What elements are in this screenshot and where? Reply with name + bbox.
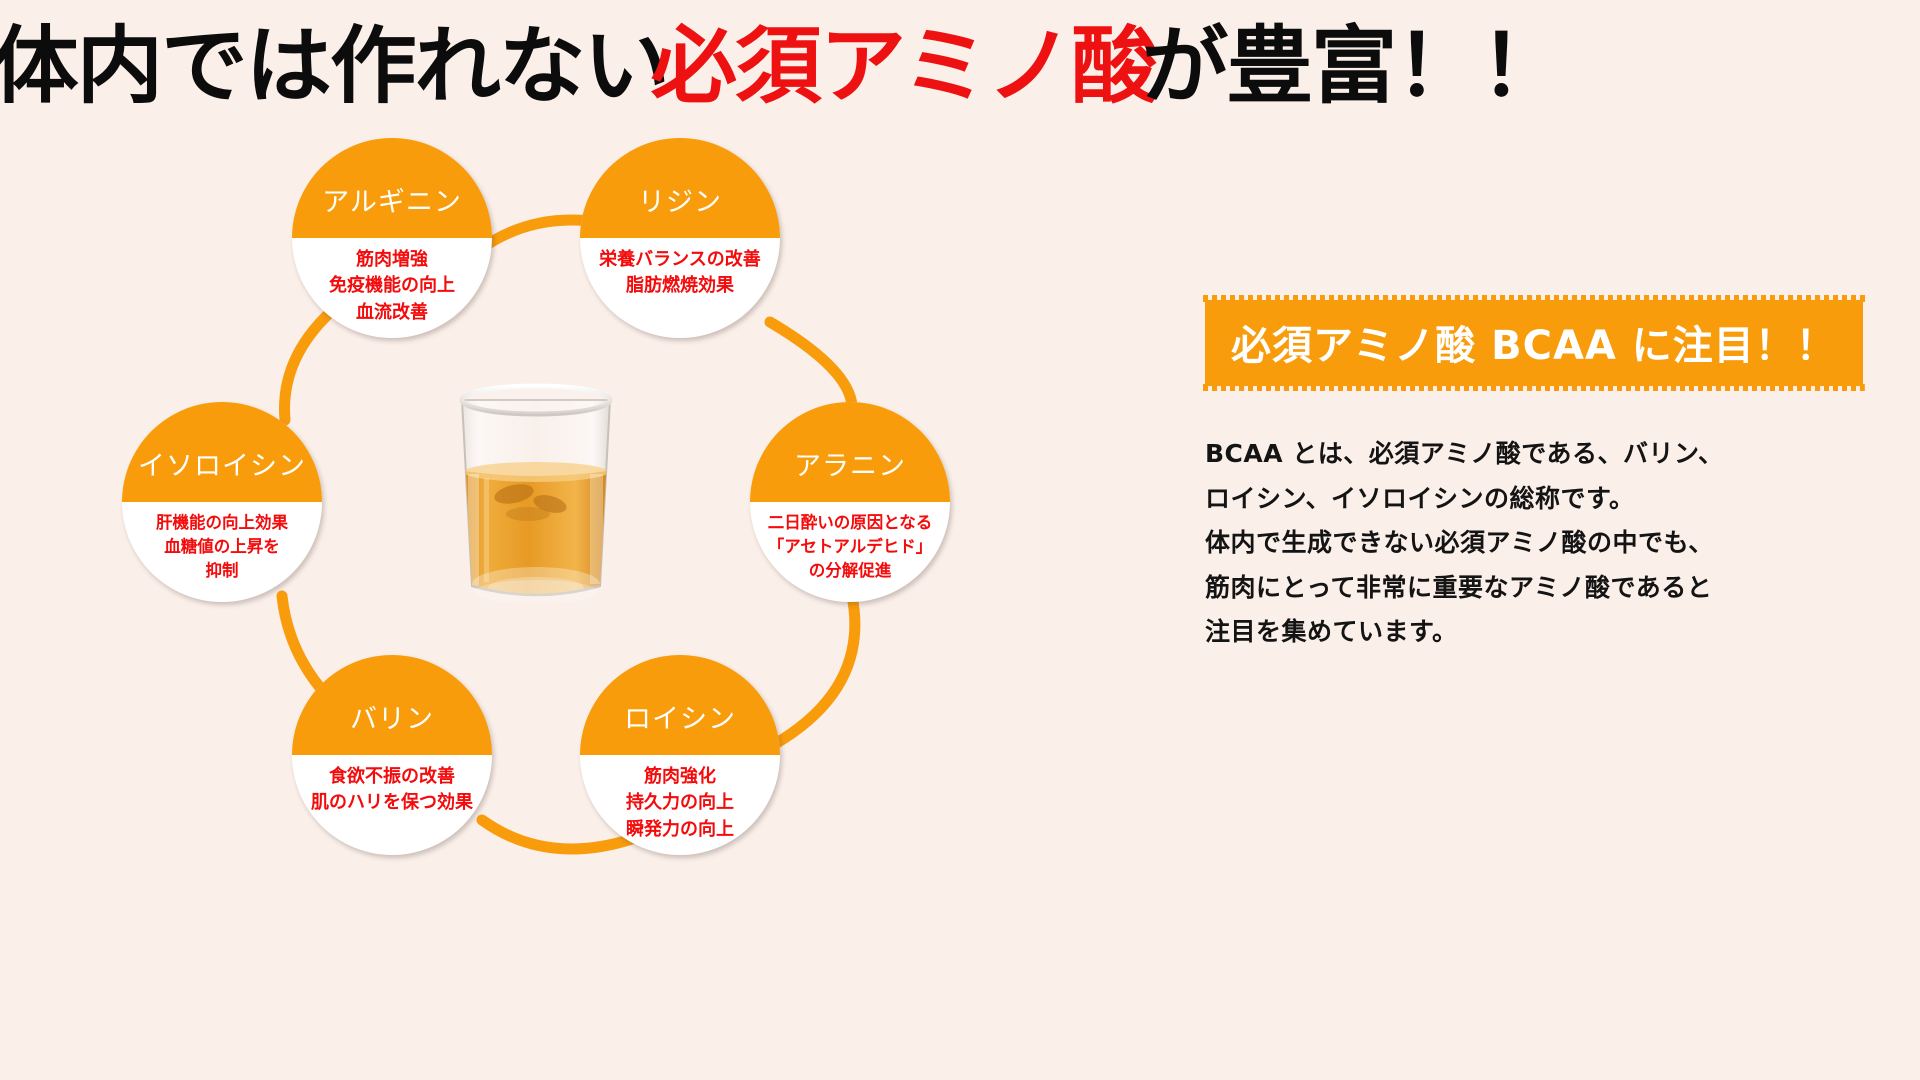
bubble-valine-effects: 食欲不振の改善 肌のハリを保つ効果: [292, 755, 492, 855]
bubble-arginine-name: アルギニン: [322, 180, 462, 219]
effect-line: 筋肉増強: [356, 247, 428, 273]
effect-line: 持久力の向上: [626, 790, 734, 816]
bubble-lysine-name: リジン: [638, 180, 722, 219]
page-title: 体内では作れない必須アミノ酸が豊富！！: [0, 22, 1560, 110]
bubble-alanine-header: アラニン: [750, 402, 950, 502]
bubble-valine[interactable]: バリン 食欲不振の改善 肌のハリを保つ効果: [292, 655, 492, 855]
effect-line: 肌のハリを保つ効果: [311, 790, 473, 816]
bubble-leucine[interactable]: ロイシン 筋肉強化 持久力の向上 瞬発力の向上: [580, 655, 780, 855]
bcaa-banner-text: 必須アミノ酸 BCAA に注目！！: [1231, 323, 1837, 369]
bubble-isoleucine[interactable]: イソロイシン 肝機能の向上効果 血糖値の上昇を 抑制: [122, 402, 322, 602]
title-highlight: 必須アミノ酸: [650, 22, 1155, 110]
bubble-arginine[interactable]: アルギニン 筋肉増強 免疫機能の向上 血流改善: [292, 138, 492, 338]
amino-acid-wheel: アルギニン 筋肉増強 免疫機能の向上 血流改善 リジン 栄養バランスの改善 脂肪…: [110, 130, 1010, 890]
bubble-leucine-effects: 筋肉強化 持久力の向上 瞬発力の向上: [580, 755, 780, 855]
bubble-valine-header: バリン: [292, 655, 492, 755]
bubble-isoleucine-header: イソロイシン: [122, 402, 322, 502]
effect-line: 二日酔いの原因となる: [768, 511, 933, 535]
title-part-3: が豊富！！: [1142, 22, 1564, 110]
bubble-alanine-effects: 二日酔いの原因となる 「アセトアルデヒド」 の分解促進: [750, 502, 950, 602]
effect-line: 血流改善: [356, 300, 428, 326]
bubble-isoleucine-name: イソロイシン: [138, 444, 306, 483]
effect-line: 脂肪燃焼効果: [626, 273, 734, 299]
effect-line: の分解促進: [809, 559, 892, 583]
bcaa-paragraph-line: ロイシン、イソロイシンの総称です。: [1205, 477, 1895, 522]
bcaa-paragraph-line: 注目を集めています。: [1205, 610, 1895, 655]
effect-line: 瞬発力の向上: [626, 817, 734, 843]
bcaa-banner: 必須アミノ酸 BCAA に注目！！: [1205, 300, 1863, 386]
bcaa-paragraph-line: BCAA とは、必須アミノ酸である、バリン、: [1205, 432, 1895, 477]
bubble-leucine-name: ロイシン: [624, 697, 736, 736]
effect-line: 筋肉強化: [644, 764, 716, 790]
effect-line: 食欲不振の改善: [329, 764, 455, 790]
bcaa-paragraph-line: 筋肉にとって非常に重要なアミノ酸であると: [1205, 566, 1895, 611]
bubble-isoleucine-effects: 肝機能の向上効果 血糖値の上昇を 抑制: [122, 502, 322, 602]
bubble-alanine[interactable]: アラニン 二日酔いの原因となる 「アセトアルデヒド」 の分解促進: [750, 402, 950, 602]
bcaa-description: BCAA とは、必須アミノ酸である、バリン、 ロイシン、イソロイシンの総称です。…: [1205, 432, 1895, 655]
center-glass-image: [438, 378, 634, 628]
effect-line: 血糖値の上昇を: [164, 535, 280, 559]
bubble-leucine-header: ロイシン: [580, 655, 780, 755]
effect-line: 免疫機能の向上: [329, 273, 455, 299]
bubble-arginine-header: アルギニン: [292, 138, 492, 238]
effect-line: 肝機能の向上効果: [156, 511, 288, 535]
bcaa-paragraph-line: 体内で生成できない必須アミノ酸の中でも、: [1205, 521, 1895, 566]
bubble-arginine-effects: 筋肉増強 免疫機能の向上 血流改善: [292, 238, 492, 338]
bubble-alanine-name: アラニン: [794, 444, 906, 483]
effect-line: 「アセトアルデヒド」: [768, 535, 933, 559]
bubble-lysine-header: リジン: [580, 138, 780, 238]
bubble-lysine-effects: 栄養バランスの改善 脂肪燃焼効果: [580, 238, 780, 338]
effect-line: 栄養バランスの改善: [599, 247, 761, 273]
title-part-1: 体内では作れない: [0, 22, 668, 110]
arc-alanine-leucine: [775, 596, 855, 744]
glass-of-beverage: [438, 378, 634, 614]
bubble-valine-name: バリン: [350, 697, 434, 736]
bcaa-panel: 必須アミノ酸 BCAA に注目！！ BCAA とは、必須アミノ酸である、バリン、…: [1195, 300, 1895, 655]
effect-line: 抑制: [206, 559, 239, 583]
bubble-lysine[interactable]: リジン 栄養バランスの改善 脂肪燃焼効果: [580, 138, 780, 338]
